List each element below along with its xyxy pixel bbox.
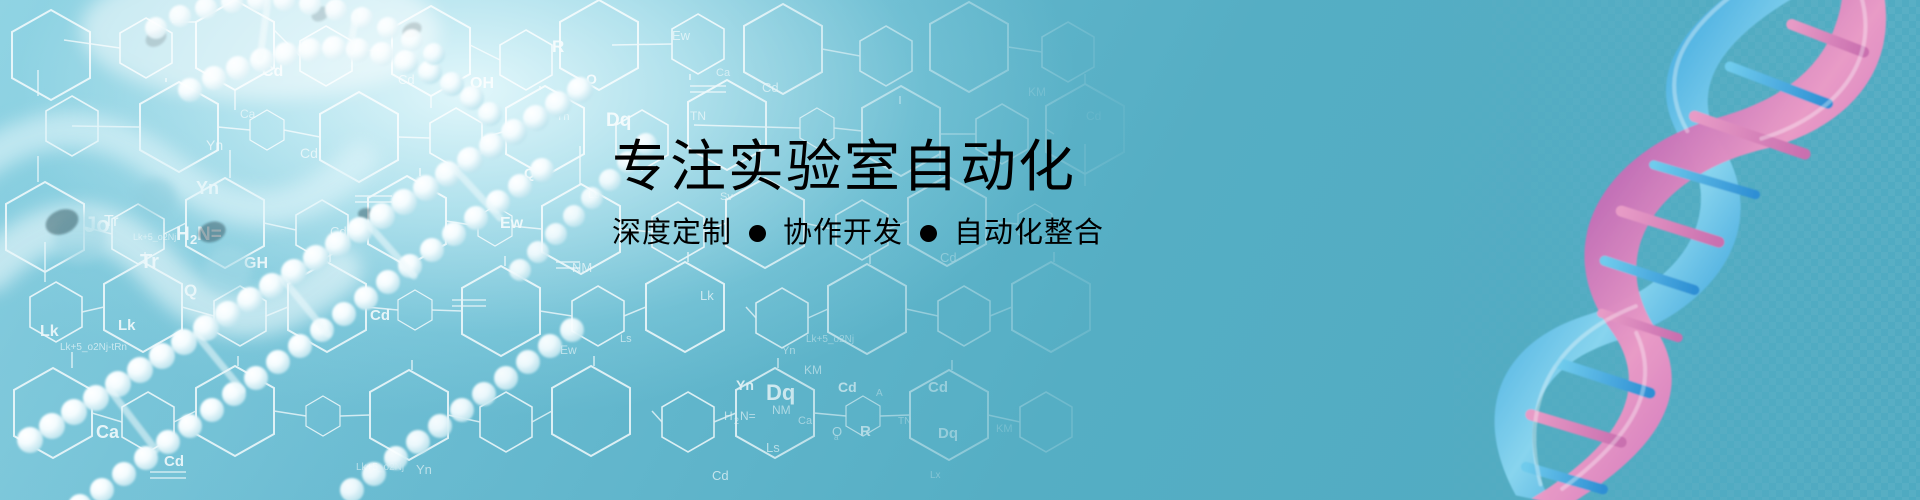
ribbon-dna-graphic [1390, 0, 1920, 500]
banner-subtitle: 深度定制 协作开发 自动化整合 [612, 216, 1312, 251]
svg-text:A: A [876, 388, 883, 399]
svg-text:Lk+5_o2Nj: Lk+5_o2Nj [806, 334, 854, 345]
svg-text:Dq: Dq [938, 425, 958, 442]
svg-text:Cd: Cd [928, 379, 948, 396]
svg-text:N=: N= [740, 409, 756, 423]
svg-text:Ca: Ca [716, 67, 731, 79]
svg-text:Dq: Dq [766, 380, 795, 405]
subtitle-item-1: 深度定制 [612, 216, 732, 251]
svg-text:Cd: Cd [940, 250, 957, 265]
svg-text:Yn: Yn [736, 377, 754, 393]
svg-text:TN: TN [898, 416, 911, 427]
svg-text:Lx: Lx [930, 470, 941, 481]
svg-text:Yn: Yn [782, 345, 795, 357]
subtitle-item-2: 协作开发 [783, 216, 903, 251]
svg-text:Lk: Lk [700, 288, 714, 303]
svg-text:Cd: Cd [838, 379, 857, 395]
banner-copy: 专注实验室自动化 深度定制 协作开发 自动化整合 [612, 138, 1312, 251]
svg-text:KM: KM [1028, 85, 1046, 99]
svg-text:Ls: Ls [766, 440, 780, 455]
svg-text:Cd: Cd [1086, 109, 1101, 123]
bullet-separator-icon [920, 225, 937, 242]
svg-text:NM: NM [772, 403, 791, 417]
svg-text:H: H [724, 409, 733, 423]
svg-text:Ca: Ca [798, 415, 813, 427]
subtitle-item-3: 自动化整合 [954, 216, 1104, 251]
pearl-dna-helix-graphic [0, 0, 700, 500]
svg-text:R: R [860, 423, 871, 440]
svg-text:2: 2 [734, 416, 739, 426]
svg-text:Cd: Cd [762, 80, 779, 95]
svg-text:KM: KM [996, 423, 1013, 435]
svg-text:KM: KM [804, 363, 822, 377]
svg-text:a: a [834, 433, 839, 442]
bullet-separator-icon [749, 225, 766, 242]
svg-text:Cd: Cd [712, 468, 729, 483]
hero-banner: Tr Jo Tr Lk+5_o2Nj H 2 N= GH Q Lk Lk+5_o… [0, 0, 1920, 500]
banner-headline: 专注实验室自动化 [612, 138, 1312, 196]
